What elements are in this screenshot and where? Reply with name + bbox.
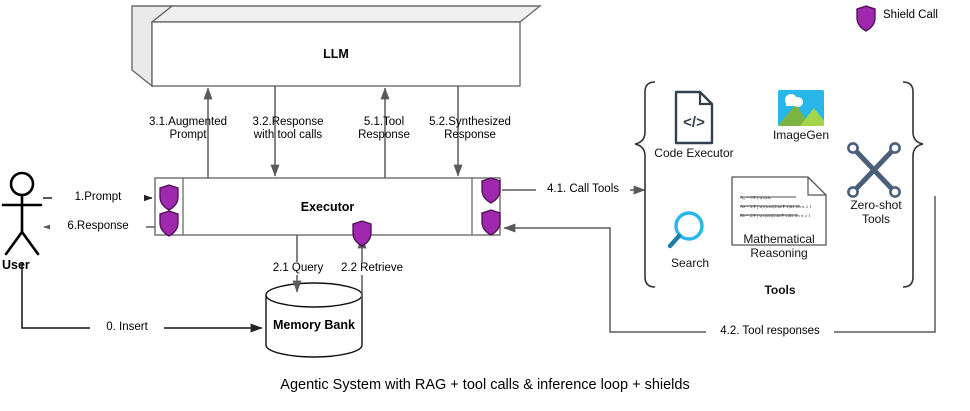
edge-label-query: 2.1 Query — [262, 262, 334, 275]
edge-label-retrieve: 2.2 Retrieve — [330, 262, 414, 275]
executor-label: Executor — [183, 200, 472, 214]
edge-label-prompt: 1.Prompt — [52, 191, 144, 204]
edge-label-call-tools: 4.1. Call Tools — [536, 183, 630, 196]
edge-label-tool-response: 5.1.Tool Response — [346, 116, 422, 142]
edge-label-insert: 0. Insert — [90, 321, 164, 334]
legend-shield-label: Shield Call — [883, 9, 938, 21]
tool-label-math-reasoning: Mathematical Reasoning — [730, 232, 828, 260]
shield-icon-legend — [857, 6, 875, 31]
crossed-wrenches-icon — [848, 143, 899, 196]
tool-label-imagegen: ImageGen — [760, 128, 842, 142]
magnifier-icon — [670, 213, 702, 246]
user-label: User — [2, 258, 30, 272]
shield-icon-memory — [353, 221, 371, 246]
diagram-caption: Agentic System with RAG + tool calls & i… — [0, 377, 970, 393]
edge-label-synthesized-response: 5.2.Synthesized Response — [422, 116, 518, 142]
tools-left-brace — [635, 82, 655, 287]
tool-label-search: Search — [658, 256, 722, 270]
edge-label-tool-responses: 4.2. Tool responses — [706, 325, 834, 338]
code-document-icon: </> — [676, 92, 712, 143]
edge-label-response: 6.Response — [50, 220, 146, 233]
tool-label-zero-shot: Zero-shot Tools — [838, 198, 914, 226]
svg-text:</>: </> — [683, 114, 705, 131]
memory-bank-label: Memory Bank — [266, 318, 362, 332]
llm-label: LLM — [152, 47, 520, 61]
user-node — [3, 173, 41, 254]
diagram-canvas: </> A₀ = 1/P ∫ s(x)dx Aₙ = 2/P ∫ s(x)cos… — [0, 0, 970, 411]
tools-group-label: Tools — [738, 283, 822, 297]
edge-label-response-tool-calls: 3.2.Response with tool calls — [238, 116, 338, 142]
tool-label-code-executor: Code Executor — [648, 146, 740, 160]
image-thumbnail-icon — [778, 90, 828, 126]
tools-right-brace — [903, 82, 923, 287]
edge-insert — [22, 262, 262, 328]
edge-label-augmented-prompt: 3.1.Augmented Prompt — [142, 116, 234, 142]
llm-node — [132, 6, 540, 86]
